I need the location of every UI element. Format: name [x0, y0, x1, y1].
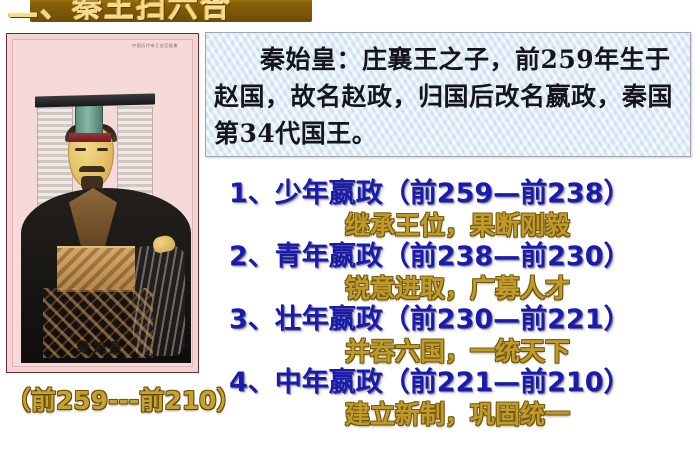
list-item-3-subtitle: 并吞六国，一统天下	[205, 336, 700, 367]
crown-cylinder	[75, 102, 103, 135]
robe-sash	[57, 246, 135, 292]
sash-pattern	[57, 248, 135, 290]
list-item-2-subtitle: 锐意进取，广募人才	[205, 273, 700, 304]
list-item-3: 3、壮年嬴政（前230—前221）	[205, 304, 700, 336]
eye-right	[97, 148, 108, 151]
portrait-signature: 秦始皇	[77, 337, 125, 356]
eye-left	[75, 148, 86, 151]
life-stages-list: 1、少年嬴政（前259—前238） 继承王位，果断刚毅 2、青年嬴政（前238—…	[205, 178, 700, 430]
biography-text: 秦始皇：庄襄王之子，前259年生于赵国，故名赵政，归国后改名嬴政，秦国第34代国…	[214, 41, 680, 152]
crown-band	[69, 133, 111, 142]
page-title: 二、秦王扫六合	[8, 0, 282, 25]
list-item-2: 2、青年嬴政（前238—前230）	[205, 241, 700, 273]
moustache	[79, 166, 105, 172]
portrait-dates-caption: （前259---前210）	[6, 386, 206, 416]
emperor-portrait-illustration	[13, 40, 192, 366]
portrait-frame: 中国历代帝王名臣画像 秦始皇	[12, 39, 193, 367]
list-item-1: 1、少年嬴政（前259—前238）	[205, 178, 700, 210]
biography-info-box: 秦始皇：庄襄王之子，前259年生于赵国，故名赵政，归国后改名嬴政，秦国第34代国…	[205, 32, 691, 157]
list-item-1-subtitle: 继承王位，果断刚毅	[205, 210, 700, 241]
portrait-card: 中国历代帝王名臣画像 秦始皇	[6, 33, 199, 373]
list-item-4: 4、中年嬴政（前221—前210）	[205, 367, 700, 399]
list-item-4-subtitle: 建立新制，巩固统一	[205, 399, 700, 430]
